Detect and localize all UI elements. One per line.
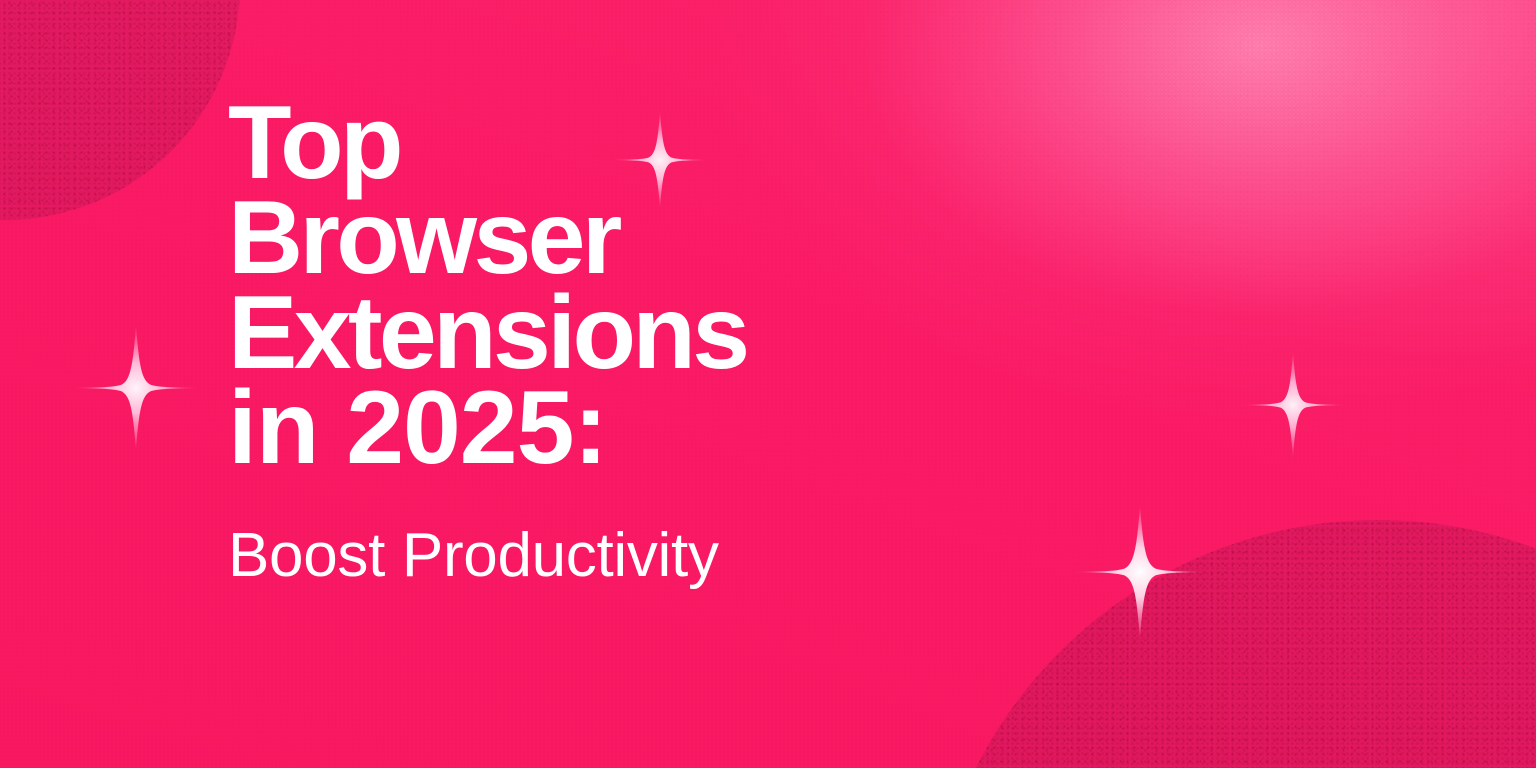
banner-headline: Top Browser Extensions in 2025: — [228, 96, 1288, 477]
banner-subtitle: Boost Productivity — [228, 523, 1288, 589]
headline-line-2: Browser — [228, 191, 1288, 286]
headline-line-3: Extensions — [228, 286, 1288, 381]
headline-line-4: in 2025: — [228, 381, 1288, 476]
banner-content: Top Browser Extensions in 2025: Boost Pr… — [228, 96, 1288, 588]
promo-banner: Top Browser Extensions in 2025: Boost Pr… — [0, 0, 1536, 768]
headline-line-1: Top — [228, 96, 1288, 191]
